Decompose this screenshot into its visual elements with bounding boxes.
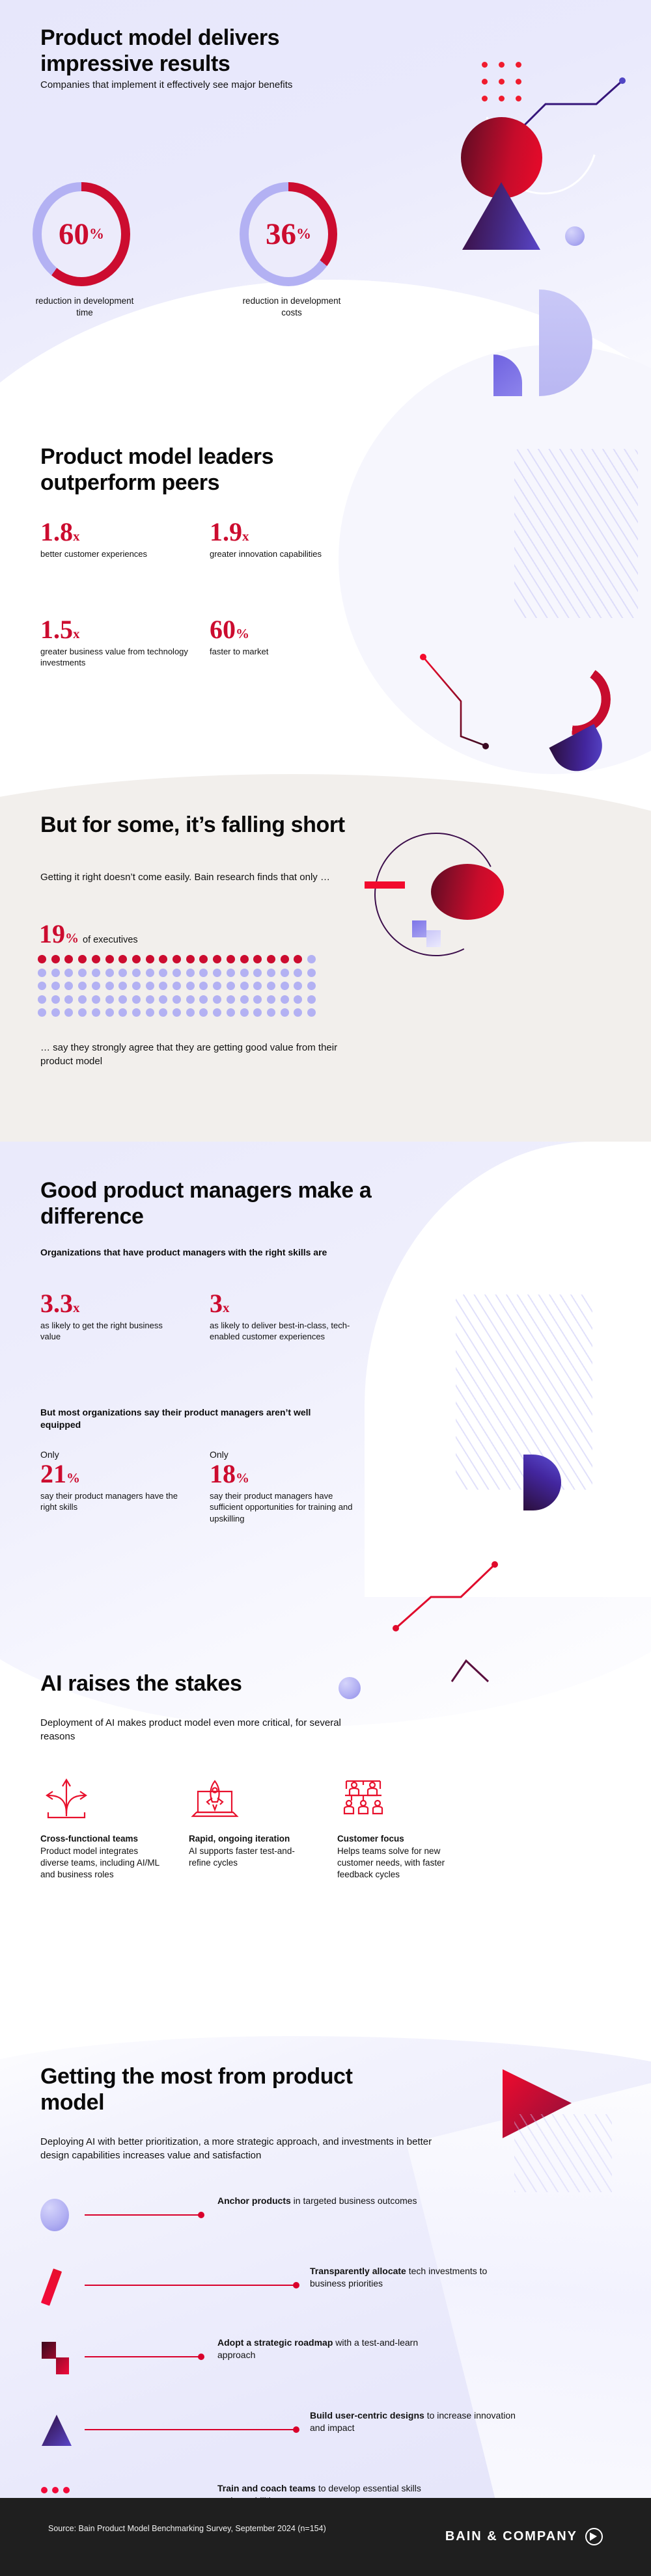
stat-caption: as likely to get the right business valu…	[40, 1320, 180, 1343]
section3-subtitle: Getting it right doesn’t come easily. Ba…	[40, 870, 346, 884]
waffle-dot	[307, 982, 316, 990]
waffle-dot	[51, 955, 60, 963]
section4-title: Good product managers make a difference	[40, 1177, 405, 1229]
waffle-dot	[51, 1008, 60, 1017]
waffle-dot	[78, 955, 87, 963]
connector-line	[85, 2429, 297, 2430]
action-item: Anchor products in targeted business out…	[40, 2197, 561, 2234]
feature-body: AI supports faster test-and-refine cycle…	[189, 1845, 312, 1869]
stat-card: 3x as likely to deliver best-in-class, t…	[210, 1292, 363, 1343]
waffle-dot	[132, 969, 141, 977]
section1-subtitle: Companies that implement it effectively …	[40, 78, 346, 92]
section-ai-raises-stakes: AI raises the stakes Deployment of AI ma…	[0, 1639, 651, 2030]
waffle-dot	[105, 982, 114, 990]
waffle-dot	[132, 995, 141, 1004]
feature-heading: Customer focus	[337, 1833, 461, 1845]
waffle-dot	[105, 969, 114, 977]
infographic-page: Product model delivers impressive result…	[0, 0, 651, 2576]
section5-subtitle: Deployment of AI makes product model eve…	[40, 1716, 346, 1744]
waffle-dot	[132, 982, 141, 990]
action-bold: Build user-centric designs	[310, 2410, 424, 2421]
section5-title: AI raises the stakes	[40, 1670, 405, 1697]
waffle-dot	[186, 955, 195, 963]
waffle-dot	[146, 1008, 154, 1017]
waffle-dot	[159, 1008, 167, 1017]
action-item: Transparently allocate tech investments …	[40, 2268, 561, 2304]
stat-value: 1.8x	[40, 520, 197, 544]
action-text: Transparently allocate tech investments …	[310, 2265, 525, 2290]
waffle-dot	[173, 1008, 181, 1017]
stat-value: 3x	[210, 1292, 363, 1315]
waffle-dot	[118, 955, 127, 963]
waffle-dot	[281, 995, 289, 1004]
section2-title: Product model leaders outperform peers	[40, 444, 379, 496]
waffle-dot	[213, 969, 221, 977]
section-leaders-outperform: Product model leaders outperform peers 1…	[0, 416, 651, 781]
feature-body: Product model integrates diverse teams, …	[40, 1845, 164, 1881]
stat-value: 60%	[210, 618, 366, 641]
donut-caption: reduction in development time	[33, 295, 137, 319]
waffle-dot	[105, 1008, 114, 1017]
waffle-dot	[159, 982, 167, 990]
stat-card: 1.5x greater business value from technol…	[40, 618, 197, 669]
stat-card: 1.9x greater innovation capabilities	[210, 520, 366, 559]
stat-caption: say their product managers have the righ…	[40, 1490, 180, 1513]
stat-label: of executives	[83, 935, 138, 945]
waffle-dot	[38, 995, 46, 1004]
waffle-dot	[186, 982, 195, 990]
stat-card: 60% faster to market	[210, 618, 366, 657]
waffle-dot	[253, 955, 262, 963]
waffle-dot	[281, 1008, 289, 1017]
waffle-dot	[294, 969, 302, 977]
waffle-dot	[253, 1008, 262, 1017]
violet-triangle-marker	[40, 2413, 76, 2447]
red-step-marker	[40, 2341, 76, 2374]
waffle-dot	[146, 995, 154, 1004]
stat-caption: as likely to deliver best-in-class, tech…	[210, 1320, 363, 1343]
section6-subtitle: Deploying AI with better prioritization,…	[40, 2135, 457, 2163]
feature-heading: Rapid, ongoing iteration	[189, 1833, 312, 1845]
action-bold: Anchor products	[217, 2195, 291, 2206]
waffle-dot	[38, 969, 46, 977]
waffle-dot	[146, 969, 154, 977]
waffle-dot	[159, 969, 167, 977]
waffle-dot	[38, 982, 46, 990]
waffle-dot	[92, 969, 100, 977]
waffle-dot	[64, 982, 73, 990]
waffle-dot	[64, 995, 73, 1004]
waffle-dot	[240, 995, 249, 1004]
stat-value: 19	[39, 921, 65, 947]
section1-title: Product model delivers impressive result…	[40, 25, 392, 77]
waffle-dot	[118, 995, 127, 1004]
waffle-dot	[240, 1008, 249, 1017]
waffle-dot	[281, 969, 289, 977]
bain-compass-icon	[585, 2528, 603, 2545]
connector-line	[85, 2356, 202, 2357]
waffle-dot	[132, 1008, 141, 1017]
feature-customer-focus: Customer focus Helps teams solve for new…	[337, 1776, 461, 1881]
waffle-dot	[64, 955, 73, 963]
footer: Source: Bain Product Model Benchmarking …	[0, 2498, 651, 2576]
waffle-dot	[307, 969, 316, 977]
action-text: Adopt a strategic roadmap with a test-an…	[217, 2337, 432, 2362]
waffle-dot	[307, 955, 316, 963]
waffle-dot	[253, 969, 262, 977]
waffle-dot	[159, 995, 167, 1004]
waffle-dot	[173, 982, 181, 990]
lavender-circle-marker	[40, 2199, 76, 2233]
stat-value: 21%	[40, 1462, 180, 1486]
waffle-dot	[173, 969, 181, 977]
feature-body: Helps teams solve for new customer needs…	[337, 1845, 461, 1881]
waffle-dot	[213, 1008, 221, 1017]
waffle-dot	[267, 969, 275, 977]
waffle-dot	[199, 1008, 208, 1017]
waffle-dot	[240, 955, 249, 963]
only-label: Only	[210, 1449, 363, 1460]
waffle-dot	[118, 1008, 127, 1017]
waffle-dot	[199, 982, 208, 990]
action-item: Adopt a strategic roadmap with a test-an…	[40, 2339, 561, 2376]
waffle-dot	[146, 982, 154, 990]
waffle-dot	[267, 1008, 275, 1017]
waffle-dot	[199, 955, 208, 963]
connector-line	[85, 2285, 297, 2286]
section4-lead-2: But most organizations say their product…	[40, 1406, 346, 1432]
waffle-dot	[213, 982, 221, 990]
waffle-dot	[227, 955, 235, 963]
waffle-dot	[92, 955, 100, 963]
donut-value: 36%	[240, 182, 337, 286]
feature-rapid-iteration: Rapid, ongoing iteration AI supports fas…	[189, 1776, 312, 1869]
waffle-dot	[92, 995, 100, 1004]
section6-title: Getting the most from product model	[40, 2063, 405, 2115]
feature-cross-functional-teams: Cross-functional teams Product model int…	[40, 1776, 164, 1881]
stat-card: 3.3x as likely to get the right business…	[40, 1292, 180, 1343]
donut-36: 36%	[240, 182, 337, 286]
waffle-dot	[199, 969, 208, 977]
waffle-dot	[78, 1008, 87, 1017]
waffle-dot	[64, 969, 73, 977]
stat-unit: %	[65, 930, 79, 946]
section-getting-the-most: Getting the most from product model Depl…	[0, 2030, 651, 2498]
waffle-dot	[253, 995, 262, 1004]
branching-arrows-icon	[40, 1776, 164, 1823]
waffle-dot	[146, 955, 154, 963]
waffle-dot	[38, 1008, 46, 1017]
action-rest: in targeted business outcomes	[291, 2195, 417, 2206]
waffle-dot	[92, 982, 100, 990]
action-text: Build user-centric designs to increase i…	[310, 2409, 525, 2435]
connector-line	[85, 2214, 202, 2216]
donut-caption: reduction in development costs	[240, 295, 344, 319]
waffle-dot	[118, 969, 127, 977]
stat-caption: faster to market	[210, 646, 366, 657]
waffle-dot	[51, 995, 60, 1004]
stat-caption: greater business value from technology i…	[40, 646, 197, 669]
action-bold: Transparently allocate	[310, 2266, 406, 2276]
waffle-dot	[213, 995, 221, 1004]
feature-heading: Cross-functional teams	[40, 1833, 164, 1845]
waffle-dot	[78, 995, 87, 1004]
waffle-dot	[240, 982, 249, 990]
executives-stat: 19% of executives	[39, 921, 138, 947]
waffle-dot	[213, 955, 221, 963]
section4-lead-1: Organizations that have product managers…	[40, 1246, 346, 1259]
stat-card: Only 21% say their product managers have…	[40, 1449, 180, 1513]
waffle-dot	[105, 995, 114, 1004]
donut-60: 60%	[33, 182, 130, 286]
waffle-dot	[253, 982, 262, 990]
waffle-dot	[105, 955, 114, 963]
section-product-model-results: Product model delivers impressive result…	[0, 0, 651, 416]
waffle-dot	[227, 1008, 235, 1017]
waffle-dot	[51, 969, 60, 977]
waffle-dot	[227, 995, 235, 1004]
bain-wordmark: BAIN & COMPANY	[445, 2529, 577, 2544]
waffle-dot	[186, 1008, 195, 1017]
section-product-managers: Good product managers make a difference …	[0, 1145, 651, 1639]
action-item: Build user-centric designs to increase i…	[40, 2412, 561, 2449]
donut-value: 60%	[33, 182, 130, 286]
waffle-dot	[307, 1008, 316, 1017]
waffle-dot	[281, 955, 289, 963]
waffle-chart	[38, 955, 321, 1022]
waffle-dot	[132, 955, 141, 963]
org-chart-people-icon	[337, 1776, 461, 1823]
waffle-dot	[267, 982, 275, 990]
waffle-dot	[173, 955, 181, 963]
stat-card: Only 18% say their product managers have…	[210, 1449, 363, 1524]
waffle-dot	[186, 995, 195, 1004]
waffle-dot	[38, 955, 46, 963]
stat-caption: say their product managers have sufficie…	[210, 1490, 363, 1524]
donut-chart-time: 60% reduction in development time	[33, 182, 137, 319]
action-bold: Adopt a strategic roadmap	[217, 2337, 333, 2348]
waffle-dot	[307, 995, 316, 1004]
waffle-dot	[281, 982, 289, 990]
only-label: Only	[40, 1449, 180, 1460]
section3-title: But for some, it’s falling short	[40, 812, 379, 838]
stat-caption: greater innovation capabilities	[210, 548, 366, 559]
waffle-dot	[159, 955, 167, 963]
stat-card: 1.8x better customer experiences	[40, 520, 197, 559]
bain-logo: BAIN & COMPANY	[445, 2528, 603, 2545]
action-bold: Train and coach teams	[217, 2483, 316, 2493]
waffle-dot	[294, 1008, 302, 1017]
donut-chart-costs: 36% reduction in development costs	[240, 182, 344, 319]
waffle-dot	[118, 982, 127, 990]
stat-value: 1.9x	[210, 520, 366, 544]
waffle-dot	[240, 969, 249, 977]
stat-value: 3.3x	[40, 1292, 180, 1315]
stat-caption: better customer experiences	[40, 548, 197, 559]
red-slash-marker	[40, 2269, 76, 2303]
waffle-dot	[186, 969, 195, 977]
waffle-dot	[51, 982, 60, 990]
waffle-dot	[294, 955, 302, 963]
waffle-dot	[64, 1008, 73, 1017]
waffle-dot	[92, 1008, 100, 1017]
waffle-dot	[227, 969, 235, 977]
waffle-dot	[173, 995, 181, 1004]
waffle-dot	[267, 995, 275, 1004]
rocket-laptop-icon	[189, 1776, 312, 1823]
section-falling-short: But for some, it’s falling short Getting…	[0, 781, 651, 1145]
waffle-dot	[294, 982, 302, 990]
stat-value: 18%	[210, 1462, 363, 1486]
waffle-dot	[199, 995, 208, 1004]
waffle-dot	[267, 955, 275, 963]
action-text: Anchor products in targeted business out…	[217, 2195, 432, 2207]
stat-value: 1.5x	[40, 618, 197, 641]
waffle-dot	[78, 969, 87, 977]
waffle-dot	[294, 995, 302, 1004]
waffle-dot	[78, 982, 87, 990]
source-note: Source: Bain Product Model Benchmarking …	[48, 2523, 326, 2535]
section3-outro: … say they strongly agree that they are …	[40, 1041, 366, 1069]
waffle-dot	[227, 982, 235, 990]
